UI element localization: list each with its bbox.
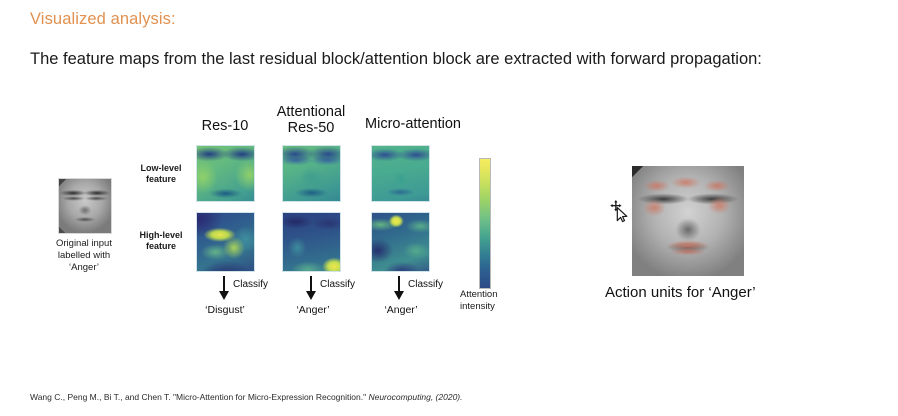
feature-map-res10-high-level: [196, 212, 255, 272]
prediction-result-res10: ‘Disgust’: [184, 304, 266, 316]
heatmap-layer: [371, 145, 430, 202]
attention-intensity-colorbar: [479, 158, 491, 289]
move-cursor-icon: [608, 200, 634, 226]
column-header-attentional-res50: Attentional Res-50: [268, 104, 354, 136]
slide-body-text: The feature maps from the last residual …: [30, 48, 770, 70]
feature-map-res10-low-level: [196, 145, 255, 202]
heatmap-layer: [196, 145, 255, 202]
feature-map-micro-attention-high-level: [371, 212, 430, 272]
heatmap-layer: [371, 212, 430, 272]
colorbar-caption: Attention intensity: [460, 289, 498, 312]
classify-arrow-icon-attentional-res50: [306, 276, 316, 300]
slide-canvas: Visualized analysis: The feature maps fr…: [0, 0, 898, 416]
original-input-caption: Original input labelled with ‘Anger’: [26, 238, 142, 274]
original-input-corner-mark: [59, 179, 111, 233]
feature-map-attentional-res50-low-level: [282, 145, 341, 202]
classify-label-res10: Classify: [233, 279, 268, 290]
column-header-micro-attention: Micro-attention: [350, 116, 476, 132]
action-units-image: [632, 166, 744, 276]
column-header-res10: Res-10: [182, 118, 268, 134]
prediction-result-micro-attention: ‘Anger’: [360, 304, 442, 316]
action-units-corner-mark: [632, 166, 744, 276]
classify-arrow-icon-res10: [219, 276, 229, 300]
heatmap-layer: [196, 212, 255, 272]
feature-map-attentional-res50-high-level: [282, 212, 341, 272]
original-input-image: [58, 178, 112, 234]
row-label-low-level: Low-level feature: [132, 163, 190, 185]
citation-authors-title: Wang C., Peng M., Bi T., and Chen T. "Mi…: [30, 392, 368, 402]
citation-journal: Neurocomputing, (2020).: [368, 392, 462, 402]
page-title: Visualized analysis:: [30, 10, 176, 29]
classify-arrow-icon-micro-attention: [394, 276, 404, 300]
heatmap-layer: [282, 145, 341, 202]
prediction-result-attentional-res50: ‘Anger’: [272, 304, 354, 316]
citation-footer: Wang C., Peng M., Bi T., and Chen T. "Mi…: [30, 392, 463, 402]
feature-map-micro-attention-low-level: [371, 145, 430, 202]
classify-label-micro-attention: Classify: [408, 279, 443, 290]
action-units-caption: Action units for ‘Anger’: [605, 284, 756, 301]
heatmap-layer: [282, 212, 341, 272]
classify-label-attentional-res50: Classify: [320, 279, 355, 290]
row-label-high-level: High-level feature: [132, 230, 190, 252]
